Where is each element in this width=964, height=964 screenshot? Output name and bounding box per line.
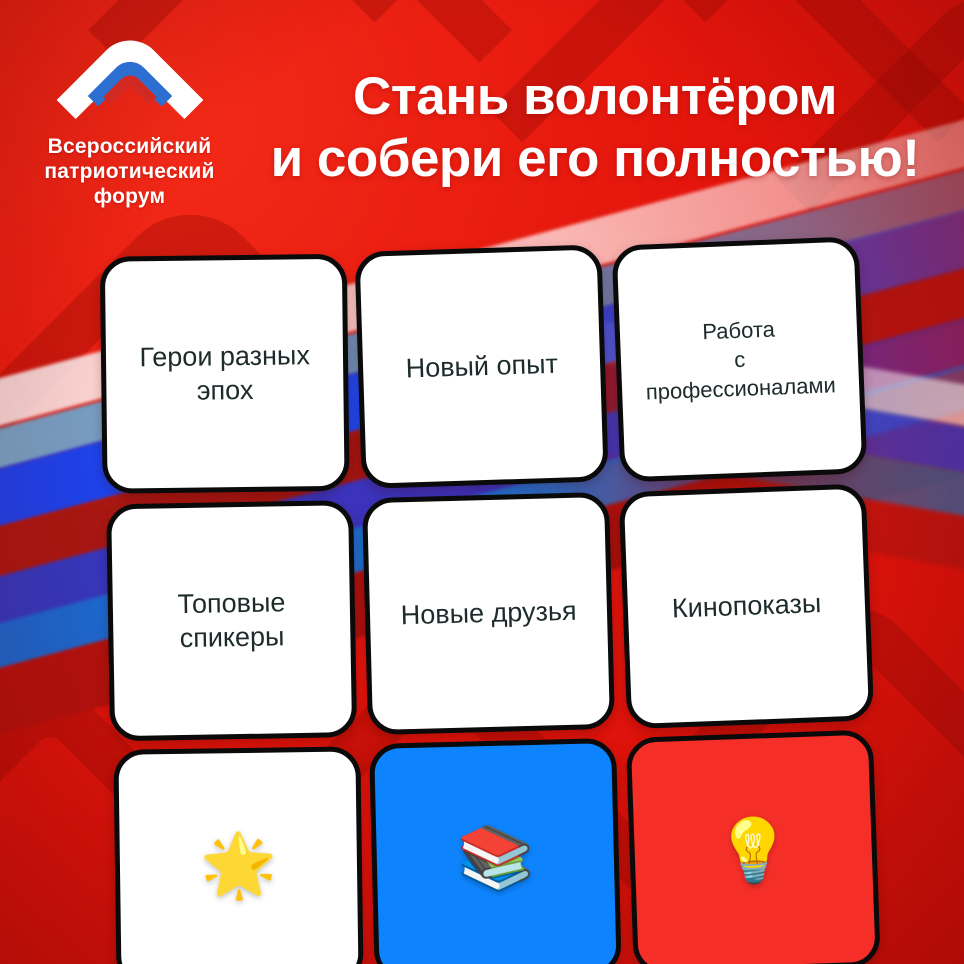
card-label-top-speakers: Топовые спикеры	[177, 585, 286, 655]
card-star[interactable]: 🌟	[113, 747, 364, 964]
poster-root: Всероссийский патриотический форум Стань…	[0, 0, 964, 964]
headline-line-1: Стань волонтёром	[353, 67, 837, 126]
card-top-speakers[interactable]: Топовые спикеры	[106, 500, 357, 741]
card-idea[interactable]: 💡	[625, 730, 880, 964]
card-label-film-screenings: Кинопоказы	[671, 586, 821, 625]
card-label-new-friends: Новые друзья	[401, 594, 578, 633]
chevron-logo-icon	[60, 22, 200, 126]
headline-line-2: и собери его полностью!	[240, 128, 950, 190]
light-bulb-emoji: 💡	[713, 820, 792, 885]
headline: Стань волонтёром и собери его полностью!	[240, 66, 950, 190]
card-new-experience[interactable]: Новый опыт	[355, 244, 610, 488]
card-books[interactable]: 📚	[369, 738, 622, 964]
brand-block: Всероссийский патриотический форум	[22, 22, 237, 209]
poster-header: Всероссийский патриотический форум Стань…	[0, 0, 964, 240]
brand-name-line-3: форум	[22, 184, 237, 209]
card-new-friends[interactable]: Новые друзья	[362, 491, 615, 734]
glowing-star-emoji: 🌟	[200, 835, 278, 898]
books-emoji: 📚	[457, 828, 536, 892]
card-professionals[interactable]: Работа с профессионалами	[611, 236, 867, 482]
card-label-professionals: Работа с профессионалами	[635, 312, 844, 407]
card-film-screenings[interactable]: Кинопоказы	[618, 483, 874, 729]
card-label-heroes: Герои разных эпох	[139, 339, 310, 409]
card-grid: Герои разных эпохНовый опытРабота с проф…	[98, 238, 880, 964]
card-grid-wrapper: Герои разных эпохНовый опытРабота с проф…	[98, 238, 880, 964]
card-label-new-experience: Новый опыт	[405, 347, 558, 386]
card-heroes[interactable]: Герои разных эпох	[100, 254, 350, 494]
